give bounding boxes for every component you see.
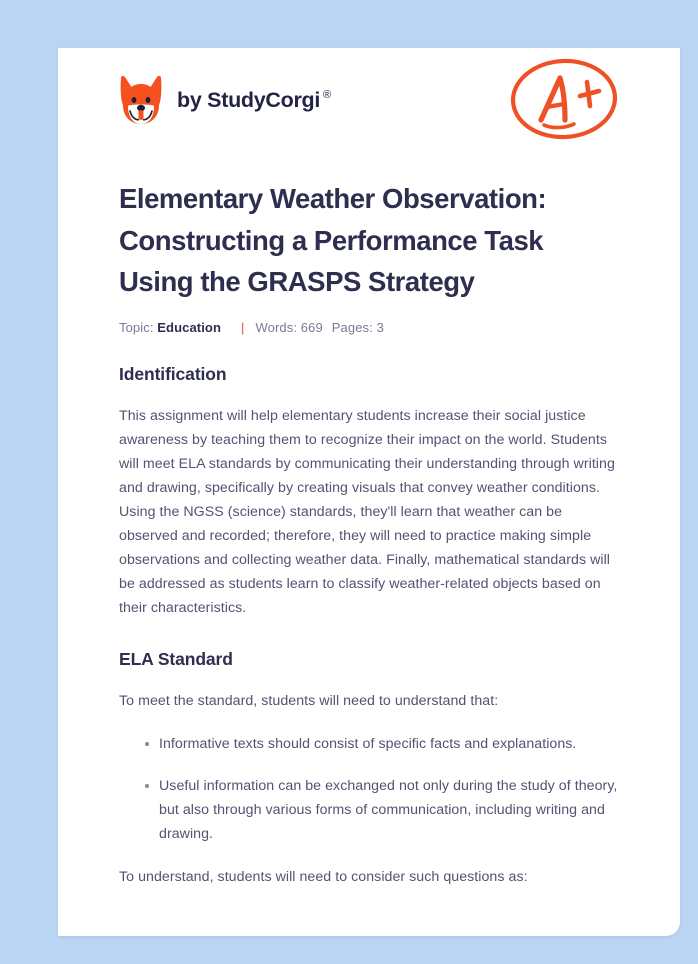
meta-topic-value[interactable]: Education [157,320,221,335]
corgi-face-icon [119,75,163,125]
article-meta: Topic: Education|Words: 669Pages: 3 [119,320,618,335]
section-intro-paragraph: To meet the standard, students will need… [119,689,618,713]
page-title: Elementary Weather Observation: Construc… [119,178,618,303]
meta-topic: Topic: Education [119,320,221,335]
meta-topic-label: Topic: [119,320,154,335]
brand-logo[interactable]: by StudyCorgi® [119,75,331,125]
document-page: by StudyCorgi® Elementary Weather Observ… [58,48,680,936]
a-plus-circle-icon [508,56,620,142]
section-heading-identification: Identification [119,364,618,385]
meta-pages-value: 3 [377,320,384,335]
meta-pages: Pages: 3 [332,320,384,335]
list-item: Useful information can be exchanged not … [119,774,618,846]
section-paragraph: This assignment will help elementary stu… [119,404,618,620]
meta-words-label: Words: [256,320,298,335]
page-content: by StudyCorgi® Elementary Weather Observ… [58,48,680,889]
meta-divider: | [241,320,244,335]
meta-words-value: 669 [301,320,323,335]
meta-pages-label: Pages: [332,320,373,335]
brand-name-text: by StudyCorgi [177,88,320,112]
section-outro-paragraph: To understand, students will need to con… [119,865,618,889]
meta-words: Words: 669 [256,320,323,335]
site-header: by StudyCorgi® [119,48,618,152]
ela-standard-list: Informative texts should consist of spec… [119,732,618,846]
list-item: Informative texts should consist of spec… [119,732,618,756]
registered-trademark-icon: ® [323,89,331,101]
brand-name: by StudyCorgi® [177,88,331,113]
section-heading-ela-standard: ELA Standard [119,649,618,670]
